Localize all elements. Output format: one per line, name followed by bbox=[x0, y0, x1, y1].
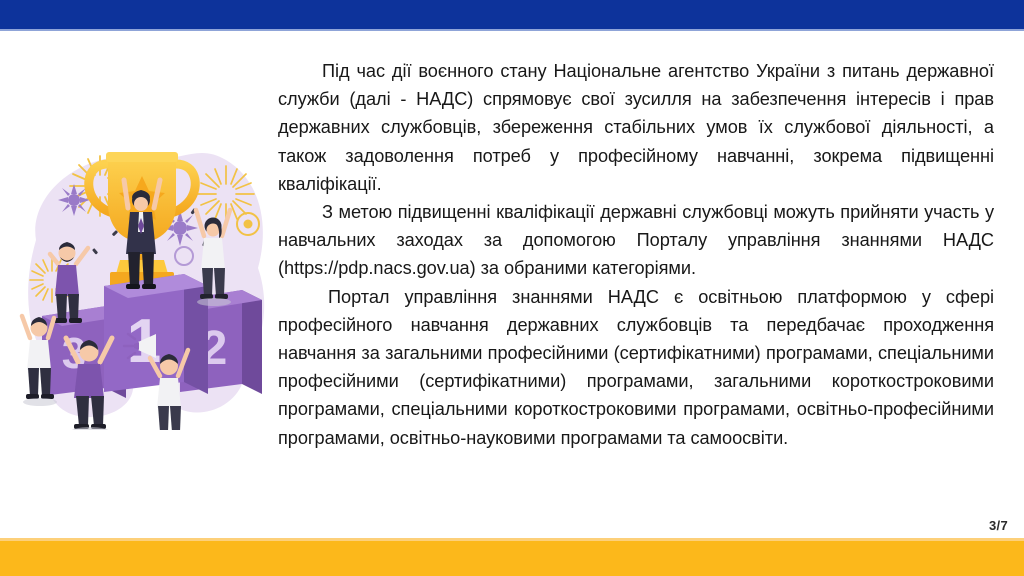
top-decorative-band bbox=[0, 0, 1024, 29]
bottom-decorative-band bbox=[0, 541, 1024, 576]
paragraph-3: Портал управління знаннями НАДС є освітн… bbox=[278, 283, 994, 452]
top-band-hairline bbox=[0, 29, 1024, 31]
slide-body-text: Під час дії воєнного стану Національне а… bbox=[278, 57, 994, 452]
paragraph-2: З метою підвищенні кваліфікації державні… bbox=[278, 198, 994, 283]
paragraph-1: Під час дії воєнного стану Національне а… bbox=[278, 57, 994, 198]
winners-podium-illustration: 3 2 1 bbox=[8, 120, 276, 430]
page-number: 3/7 bbox=[989, 518, 1008, 533]
